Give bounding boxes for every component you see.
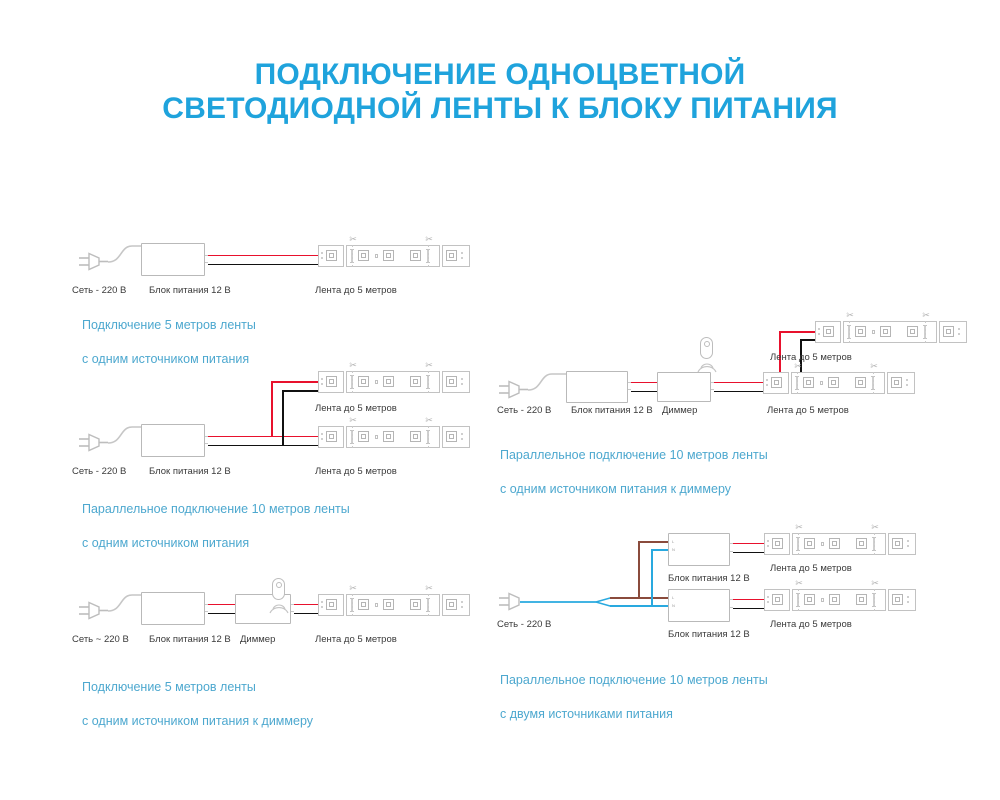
led-strip: ✂ ✂	[318, 594, 470, 616]
wire-negative	[208, 445, 319, 447]
scissors-cut-icon: ✂	[845, 310, 855, 321]
wire-negative	[733, 608, 765, 610]
wire-neutral-riser	[651, 549, 653, 606]
wire-positive-out	[714, 382, 764, 384]
scissors-cut-icon: ✂	[348, 583, 358, 594]
scissors-cut-icon: ✂	[870, 522, 880, 533]
scissors-cut-icon: ✂	[870, 578, 880, 589]
psu-label: Блок питания 12 В	[668, 573, 750, 584]
wire-positive-top	[271, 381, 319, 383]
scissors-cut-icon: ✂	[424, 360, 434, 371]
psu-box	[566, 371, 628, 403]
caption-line-2: с одним источником питания	[82, 535, 350, 552]
caption-line-2: с одним источником питания	[82, 351, 256, 368]
scissors-cut-icon: ✂	[793, 361, 803, 372]
led-strip: ✂ ✂	[763, 372, 915, 394]
wire-negative-out	[714, 391, 764, 393]
scissors-cut-icon: ✂	[424, 415, 434, 426]
strip-label: Лента до 5 метров	[315, 466, 397, 477]
mains-label: Сеть - 220 В	[497, 619, 551, 630]
strip-label: Лента до 5 метров	[770, 563, 852, 574]
scissors-cut-icon: ✂	[424, 583, 434, 594]
psu-label: Блок питания 12 В	[149, 466, 231, 477]
psu-label: Блок питания 12 В	[668, 629, 750, 640]
led-strip: ✂ ✂	[764, 533, 916, 555]
wire-negative-top	[282, 390, 319, 392]
scissors-cut-icon: ✂	[921, 310, 931, 321]
terminal-n-label: N	[672, 547, 675, 552]
psu-box	[668, 589, 730, 622]
strip-label: Лента до 5 метров	[315, 285, 397, 296]
diagram-caption: Подключение 5 метров ленты с одним источ…	[82, 300, 256, 385]
psu-box	[141, 243, 205, 276]
diagram-page: ПОДКЛЮЧЕНИЕ ОДНОЦВЕТНОЙ СВЕТОДИОДНОЙ ЛЕН…	[0, 0, 1000, 800]
caption-line-1: Подключение 5 метров ленты	[82, 679, 313, 696]
terminal-l-label: L	[672, 539, 674, 544]
led-strip: ✂ ✂	[764, 589, 916, 611]
strip-label: Лента до 5 метров	[315, 403, 397, 414]
scissors-cut-icon: ✂	[424, 234, 434, 245]
mains-label: Сеть - 220 В	[72, 285, 126, 296]
wire-positive	[631, 382, 658, 384]
wireless-signal-icon	[265, 601, 293, 615]
psu-box	[141, 592, 205, 625]
caption-line-1: Параллельное подключение 10 метров ленты	[500, 447, 768, 464]
caption-line-1: Параллельное подключение 10 метров ленты	[82, 501, 350, 518]
led-strip: ✂ ✂	[318, 371, 470, 393]
psu-label: Блок питания 12 В	[149, 285, 231, 296]
wire-negative	[208, 613, 236, 615]
caption-line-2: с одним источником питания к диммеру	[82, 713, 313, 730]
scissors-cut-icon: ✂	[869, 361, 879, 372]
wire-positive	[208, 255, 319, 257]
wire-neutral-cyan	[610, 605, 668, 607]
strip-label: Лента до 5 метров	[770, 619, 852, 630]
psu-box	[141, 424, 205, 457]
caption-line-1: Подключение 5 метров ленты	[82, 317, 256, 334]
led-strip: ✂ ✂	[318, 245, 470, 267]
wire-negative-out	[294, 613, 320, 615]
caption-line-2: с одним источником питания к диммеру	[500, 481, 768, 498]
led-strip: ✂ ✂	[815, 321, 967, 343]
caption-line-2: с двумя источниками питания	[500, 706, 768, 723]
wire-positive-out	[294, 604, 320, 606]
dimmer-label: Диммер	[240, 634, 275, 645]
wire-positive	[733, 543, 765, 545]
led-strip: ✂ ✂	[318, 426, 470, 448]
wire-negative	[208, 264, 319, 266]
scissors-cut-icon: ✂	[794, 578, 804, 589]
strip-label: Лента до 5 метров	[315, 634, 397, 645]
scissors-cut-icon: ✂	[348, 415, 358, 426]
terminal-n-label: N	[672, 603, 675, 608]
diagram-caption: Подключение 5 метров ленты с одним источ…	[82, 662, 313, 747]
mains-label: Сеть ~ 220 В	[72, 634, 129, 645]
wire-line-riser	[638, 541, 640, 598]
wire-negative	[733, 552, 765, 554]
scissors-cut-icon: ✂	[348, 360, 358, 371]
diagram-caption: Параллельное подключение 10 метров ленты…	[500, 430, 768, 515]
scissors-cut-icon: ✂	[348, 234, 358, 245]
mains-label: Сеть - 220 В	[72, 466, 126, 477]
dimmer-label: Диммер	[662, 405, 697, 416]
caption-line-1: Параллельное подключение 10 метров ленты	[500, 672, 768, 689]
dimmer-box	[657, 372, 711, 402]
diagram-parallel-10m-two-psu: L N ✂ ✂ Лента до 5 метров Блок пита	[0, 0, 1000, 180]
wire-line-top	[638, 541, 670, 543]
wire-positive	[208, 604, 236, 606]
wire-positive-top	[779, 331, 816, 333]
diagram-caption: Параллельное подключение 10 метров ленты…	[500, 655, 768, 740]
wire-positive-riser	[271, 381, 273, 437]
wire-negative	[631, 391, 658, 393]
psu-label: Блок питания 12 В	[571, 405, 653, 416]
strip-label: Лента до 5 метров	[767, 405, 849, 416]
wireless-signal-icon	[693, 360, 721, 374]
strip-label: Лента до 5 метров	[770, 352, 852, 363]
wire-negative-top	[800, 339, 816, 341]
wire-negative-riser	[282, 390, 284, 446]
scissors-cut-icon: ✂	[794, 522, 804, 533]
psu-box	[668, 533, 730, 566]
psu-label: Блок питания 12 В	[149, 634, 231, 645]
wire-positive	[208, 436, 319, 438]
mains-label: Сеть - 220 В	[497, 405, 551, 416]
terminal-l-label: L	[672, 595, 674, 600]
wire-positive	[733, 599, 765, 601]
diagram-caption: Параллельное подключение 10 метров ленты…	[82, 484, 350, 569]
